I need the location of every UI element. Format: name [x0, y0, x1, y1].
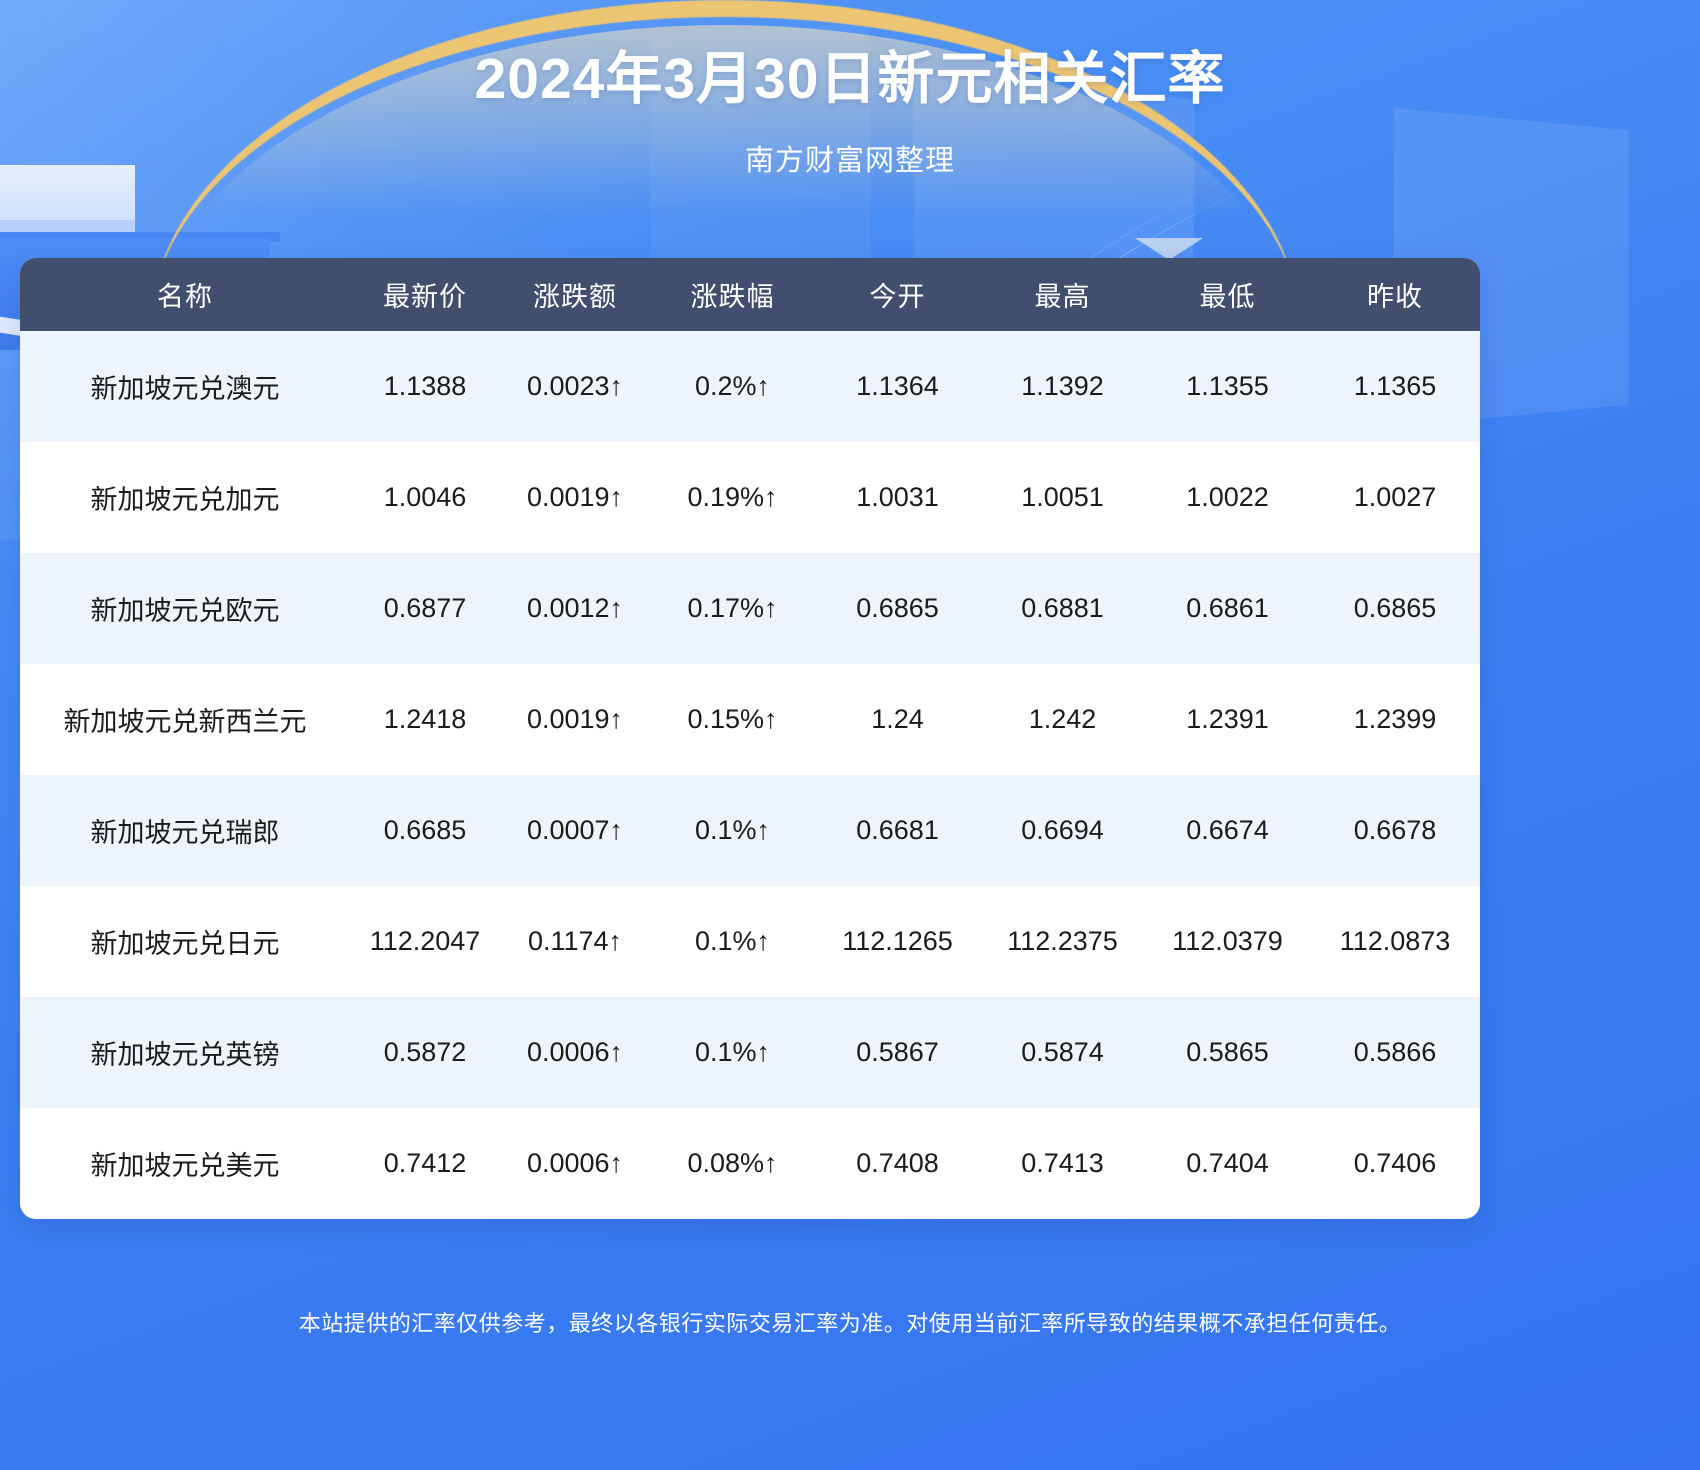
- cell-last-price: 0.6877: [350, 553, 500, 664]
- cell-name: 新加坡元兑新西兰元: [20, 664, 350, 775]
- block-edge-icon: [0, 232, 280, 242]
- arrow-up-icon: ↑: [757, 815, 771, 845]
- arrow-up-icon: ↑: [610, 1148, 624, 1178]
- cell-high: 1.1392: [980, 331, 1145, 442]
- triangle-marker-icon: [1135, 238, 1203, 260]
- cell-change: 0.0006↑: [500, 997, 650, 1108]
- cell-change: 0.0012↑: [500, 553, 650, 664]
- cell-last-price: 1.2418: [350, 664, 500, 775]
- cell-change-pct: 0.17%↑: [650, 553, 815, 664]
- cell-change-pct: 0.15%↑: [650, 664, 815, 775]
- cell-low: 112.0379: [1145, 886, 1310, 997]
- arrow-up-icon: ↑: [764, 704, 778, 734]
- column-header-change[interactable]: 涨跌额: [500, 258, 650, 331]
- cell-open: 0.6681: [815, 775, 980, 886]
- arrow-up-icon: ↑: [757, 926, 771, 956]
- cell-prev-close: 1.1365: [1310, 331, 1480, 442]
- table-body: 新加坡元兑澳元1.13880.0023↑0.2%↑1.13641.13921.1…: [20, 331, 1480, 1219]
- cell-change: 0.0023↑: [500, 331, 650, 442]
- cell-change: 0.0019↑: [500, 442, 650, 553]
- cell-high: 0.7413: [980, 1108, 1145, 1219]
- column-header-open[interactable]: 今开: [815, 258, 980, 331]
- cell-change: 0.1174↑: [500, 886, 650, 997]
- arrow-up-icon: ↑: [764, 482, 778, 512]
- cell-prev-close: 112.0873: [1310, 886, 1480, 997]
- exchange-rate-poster: 2024年3月30日新元相关汇率 南方财富网整理 南方财富网 southmone…: [0, 0, 1700, 1470]
- cell-open: 1.0031: [815, 442, 980, 553]
- cell-low: 0.5865: [1145, 997, 1310, 1108]
- cell-open: 1.1364: [815, 331, 980, 442]
- table-row[interactable]: 新加坡元兑美元0.74120.0006↑0.08%↑0.74080.74130.…: [20, 1108, 1480, 1219]
- poster-header: 2024年3月30日新元相关汇率 南方财富网整理: [0, 0, 1700, 179]
- column-header-prev-close[interactable]: 昨收: [1310, 258, 1480, 331]
- column-header-high[interactable]: 最高: [980, 258, 1145, 331]
- cell-prev-close: 1.0027: [1310, 442, 1480, 553]
- arrow-up-icon: ↑: [610, 371, 624, 401]
- cell-name: 新加坡元兑日元: [20, 886, 350, 997]
- cell-change: 0.0006↑: [500, 1108, 650, 1219]
- rates-table-card: 南方财富网 southmoney.com 名称 最新价 涨跌额 涨跌幅 今开 最…: [20, 258, 1480, 1219]
- cell-last-price: 112.2047: [350, 886, 500, 997]
- cell-high: 0.6881: [980, 553, 1145, 664]
- cell-prev-close: 0.6865: [1310, 553, 1480, 664]
- cell-prev-close: 0.7406: [1310, 1108, 1480, 1219]
- cell-open: 112.1265: [815, 886, 980, 997]
- arrow-up-icon: ↑: [610, 704, 624, 734]
- cell-last-price: 0.5872: [350, 997, 500, 1108]
- table-row[interactable]: 新加坡元兑澳元1.13880.0023↑0.2%↑1.13641.13921.1…: [20, 331, 1480, 442]
- cell-open: 0.5867: [815, 997, 980, 1108]
- arrow-up-icon: ↑: [609, 926, 623, 956]
- table-row[interactable]: 新加坡元兑日元112.20470.1174↑0.1%↑112.1265112.2…: [20, 886, 1480, 997]
- cell-low: 1.2391: [1145, 664, 1310, 775]
- arrow-up-icon: ↑: [610, 815, 624, 845]
- cell-prev-close: 1.2399: [1310, 664, 1480, 775]
- cell-name: 新加坡元兑澳元: [20, 331, 350, 442]
- cell-change: 0.0007↑: [500, 775, 650, 886]
- arrow-up-icon: ↑: [610, 593, 624, 623]
- cell-name: 新加坡元兑英镑: [20, 997, 350, 1108]
- column-header-last-price[interactable]: 最新价: [350, 258, 500, 331]
- cell-prev-close: 0.5866: [1310, 997, 1480, 1108]
- cell-change: 0.0019↑: [500, 664, 650, 775]
- cell-change-pct: 0.08%↑: [650, 1108, 815, 1219]
- cell-change-pct: 0.2%↑: [650, 331, 815, 442]
- exchange-rates-table: 名称 最新价 涨跌额 涨跌幅 今开 最高 最低 昨收 新加坡元兑澳元1.1388…: [20, 258, 1480, 1219]
- cell-high: 1.242: [980, 664, 1145, 775]
- cell-change-pct: 0.1%↑: [650, 997, 815, 1108]
- cell-low: 0.6674: [1145, 775, 1310, 886]
- cell-open: 0.7408: [815, 1108, 980, 1219]
- cell-high: 0.6694: [980, 775, 1145, 886]
- column-header-low[interactable]: 最低: [1145, 258, 1310, 331]
- arrow-up-icon: ↑: [757, 371, 771, 401]
- cell-open: 1.24: [815, 664, 980, 775]
- cell-open: 0.6865: [815, 553, 980, 664]
- table-header-row: 名称 最新价 涨跌额 涨跌幅 今开 最高 最低 昨收: [20, 258, 1480, 331]
- cell-high: 1.0051: [980, 442, 1145, 553]
- arrow-up-icon: ↑: [764, 593, 778, 623]
- arrow-up-icon: ↑: [610, 1037, 624, 1067]
- cell-change-pct: 0.1%↑: [650, 775, 815, 886]
- arrow-up-icon: ↑: [764, 1148, 778, 1178]
- block-top-shadow-icon: [0, 220, 135, 242]
- table-header: 名称 最新价 涨跌额 涨跌幅 今开 最高 最低 昨收: [20, 258, 1480, 331]
- column-header-name[interactable]: 名称: [20, 258, 350, 331]
- table-row[interactable]: 新加坡元兑瑞郎0.66850.0007↑0.1%↑0.66810.66940.6…: [20, 775, 1480, 886]
- cell-name: 新加坡元兑美元: [20, 1108, 350, 1219]
- cell-last-price: 0.6685: [350, 775, 500, 886]
- cell-low: 0.7404: [1145, 1108, 1310, 1219]
- disclaimer-note: 本站提供的汇率仅供参考，最终以各银行实际交易汇率为准。对使用当前汇率所导致的结果…: [0, 1306, 1700, 1338]
- cell-name: 新加坡元兑瑞郎: [20, 775, 350, 886]
- page-subtitle: 南方财富网整理: [0, 113, 1700, 179]
- column-header-change-pct[interactable]: 涨跌幅: [650, 258, 815, 331]
- table-row[interactable]: 新加坡元兑加元1.00460.0019↑0.19%↑1.00311.00511.…: [20, 442, 1480, 553]
- cell-change-pct: 0.19%↑: [650, 442, 815, 553]
- table-row[interactable]: 新加坡元兑英镑0.58720.0006↑0.1%↑0.58670.58740.5…: [20, 997, 1480, 1108]
- cell-last-price: 0.7412: [350, 1108, 500, 1219]
- cell-last-price: 1.0046: [350, 442, 500, 553]
- cell-change-pct: 0.1%↑: [650, 886, 815, 997]
- page-title: 2024年3月30日新元相关汇率: [0, 0, 1700, 113]
- cell-low: 0.6861: [1145, 553, 1310, 664]
- arrow-up-icon: ↑: [610, 482, 624, 512]
- cell-high: 0.5874: [980, 997, 1145, 1108]
- cell-prev-close: 0.6678: [1310, 775, 1480, 886]
- arrow-up-icon: ↑: [757, 1037, 771, 1067]
- table-row[interactable]: 新加坡元兑新西兰元1.24180.0019↑0.15%↑1.241.2421.2…: [20, 664, 1480, 775]
- cell-last-price: 1.1388: [350, 331, 500, 442]
- table-row[interactable]: 新加坡元兑欧元0.68770.0012↑0.17%↑0.68650.68810.…: [20, 553, 1480, 664]
- cell-name: 新加坡元兑加元: [20, 442, 350, 553]
- cell-low: 1.1355: [1145, 331, 1310, 442]
- cell-high: 112.2375: [980, 886, 1145, 997]
- cell-low: 1.0022: [1145, 442, 1310, 553]
- cell-name: 新加坡元兑欧元: [20, 553, 350, 664]
